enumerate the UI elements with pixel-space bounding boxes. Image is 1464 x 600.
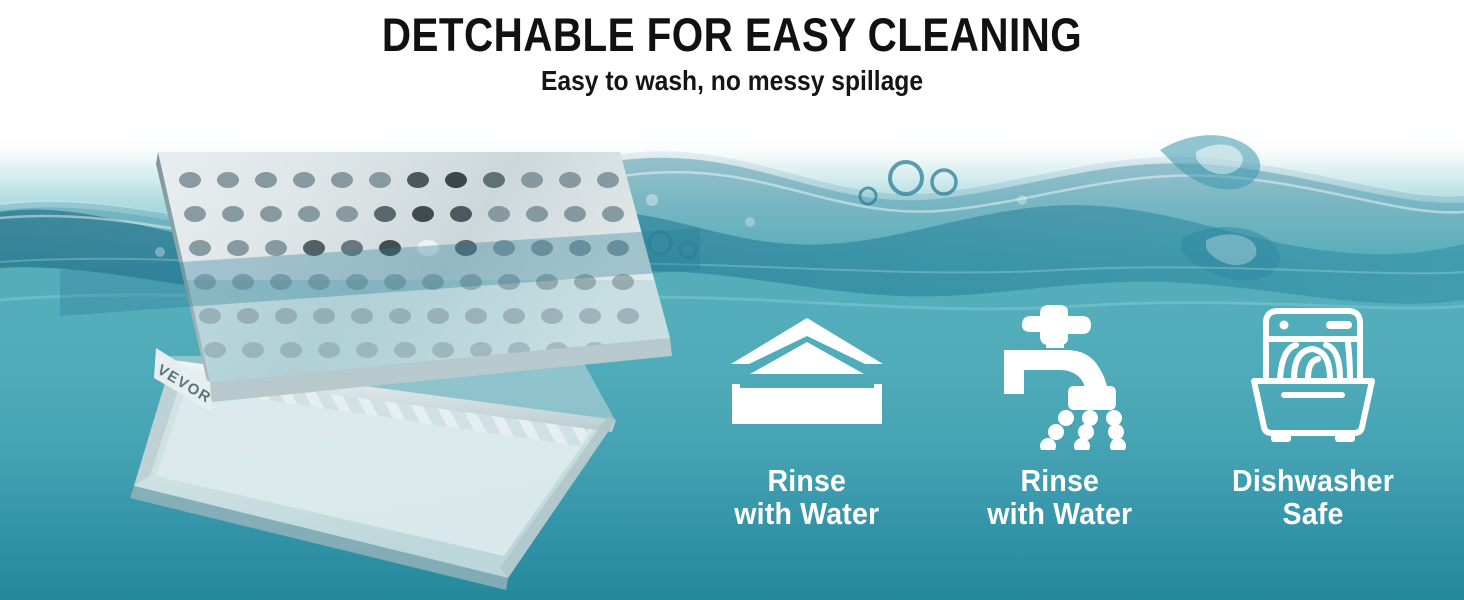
product-image: VEVOR bbox=[60, 120, 700, 590]
feature-label: Rinse with Water bbox=[734, 464, 879, 530]
headline-block: DETCHABLE FOR EASY CLEANING Easy to wash… bbox=[0, 10, 1464, 98]
page-subtitle: Easy to wash, no messy spillage bbox=[88, 64, 1376, 98]
page-title: DETCHABLE FOR EASY CLEANING bbox=[102, 10, 1361, 60]
feature-label: Rinse with Water bbox=[988, 464, 1133, 530]
feature-list: Rinse with Water bbox=[680, 300, 1440, 570]
dishwasher-icon bbox=[1248, 300, 1378, 450]
product-feature-banner: VEVOR DETCHABLE FOR EASY CLEANING Easy t… bbox=[0, 0, 1464, 600]
feature-item-rinse-faucet: Rinse with Water bbox=[933, 300, 1186, 570]
feature-item-rinse-lid: Rinse with Water bbox=[680, 300, 933, 570]
feature-item-dishwasher: Dishwasher Safe bbox=[1187, 300, 1440, 570]
detachable-lid-tray-icon bbox=[724, 300, 890, 450]
faucet-water-drops-icon bbox=[990, 300, 1130, 450]
feature-label: Dishwasher Safe bbox=[1232, 464, 1394, 530]
